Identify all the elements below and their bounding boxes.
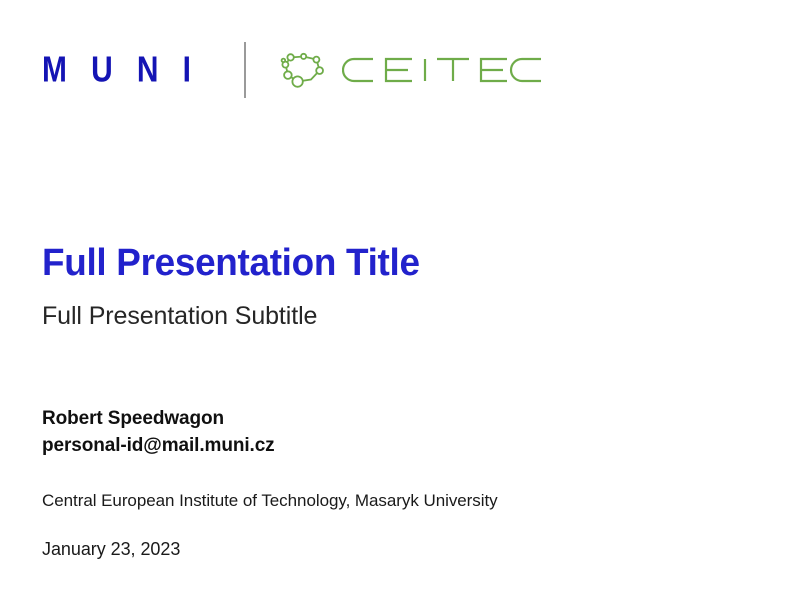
page-title: Full Presentation Title [42, 243, 721, 285]
ceitec-logo [278, 48, 548, 92]
logo-bar: M U N I [42, 42, 548, 98]
author-email: personal-id@mail.muni.cz [42, 433, 742, 460]
page-subtitle: Full Presentation Subtitle [42, 301, 742, 331]
author-name: Robert Speedwagon [42, 406, 742, 433]
affiliation-text: Central European Institute of Technology… [42, 490, 742, 512]
muni-logo-wordmark: M U N I [42, 52, 202, 88]
ceitec-logo-wordmark [342, 53, 548, 87]
logo-divider [244, 42, 246, 98]
presentation-date: January 23, 2023 [42, 538, 742, 561]
ceitec-molecule-icon [278, 48, 328, 92]
presenter-meta-block: Robert Speedwagon personal-id@mail.muni.… [42, 406, 742, 561]
title-block: Full Presentation Title Full Presentatio… [42, 243, 742, 331]
title-slide: M U N I [0, 0, 794, 596]
